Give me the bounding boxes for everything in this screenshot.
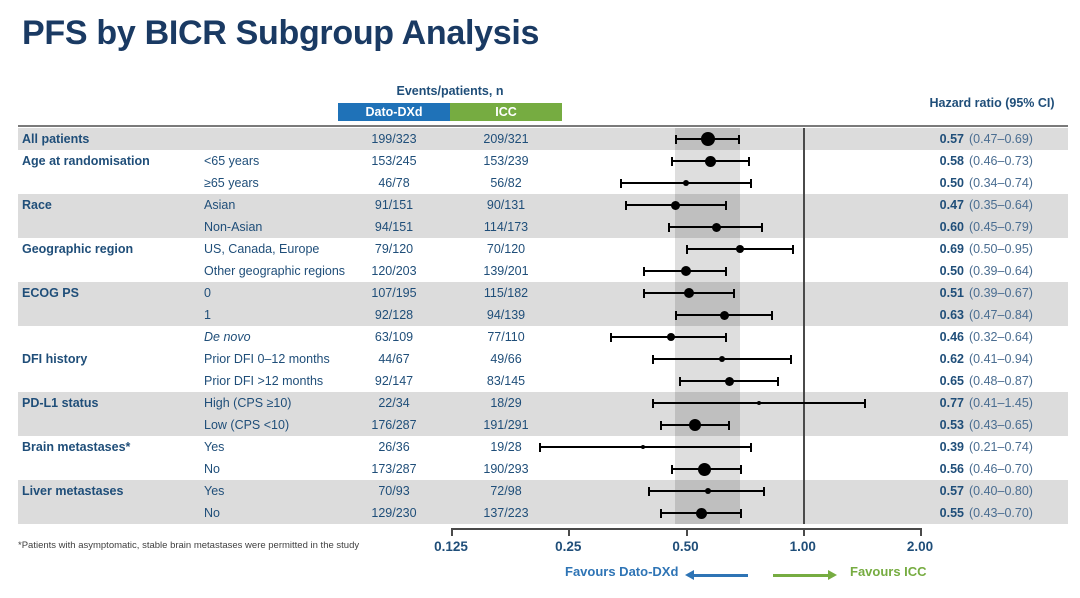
events-patients-header: Events/patients, n (338, 84, 562, 98)
hazard-ratio-ci: (0.46–0.73) (969, 150, 1033, 172)
hazard-ratio-cell: 0.51(0.39–0.67) (918, 282, 1033, 304)
hazard-ratio-cell: 0.65(0.48–0.87) (918, 370, 1033, 392)
hazard-ratio-cell: 0.39(0.21–0.74) (918, 436, 1033, 458)
table-row: ECOG PS0107/195115/1820.51(0.39–0.67) (18, 282, 1068, 304)
subgroup-name: All patients (22, 128, 89, 150)
hazard-ratio-ci: (0.45–0.79) (969, 216, 1033, 238)
subgroup-name: Brain metastases* (22, 436, 130, 458)
hazard-ratio-ci: (0.41–0.94) (969, 348, 1033, 370)
events-icc: 49/66 (450, 348, 562, 370)
table-row: De novo63/10977/1100.46(0.32–0.64) (18, 326, 1068, 348)
table-row: All patients199/323209/3210.57(0.47–0.69… (18, 128, 1068, 150)
hazard-ratio-ci: (0.41–1.45) (969, 392, 1033, 414)
hazard-ratio-cell: 0.62(0.41–0.94) (918, 348, 1033, 370)
hazard-ratio-cell: 0.53(0.43–0.65) (918, 414, 1033, 436)
axis-tick-label: 2.00 (907, 539, 933, 554)
hazard-ratio-value: 0.39 (918, 436, 964, 458)
events-dato-dxd: 26/36 (338, 436, 450, 458)
events-dato-dxd: 120/203 (338, 260, 450, 282)
subgroup-level: US, Canada, Europe (204, 238, 319, 260)
events-icc: 18/29 (450, 392, 562, 414)
axis-tick (920, 528, 922, 536)
hazard-ratio-cell: 0.56(0.46–0.70) (918, 458, 1033, 480)
axis-tick-label: 0.125 (434, 539, 468, 554)
subgroup-level: Yes (204, 436, 224, 458)
favours-icc-label: Favours ICC (850, 564, 927, 579)
table-row: DFI historyPrior DFI 0–12 months44/6749/… (18, 348, 1068, 370)
table-row: Geographic regionUS, Canada, Europe79/12… (18, 238, 1068, 260)
hazard-ratio-cell: 0.50(0.34–0.74) (918, 172, 1033, 194)
hazard-ratio-value: 0.50 (918, 172, 964, 194)
hazard-ratio-cell: 0.60(0.45–0.79) (918, 216, 1033, 238)
hazard-ratio-value: 0.55 (918, 502, 964, 524)
axis-tick (686, 528, 688, 536)
subgroup-level: De novo (204, 326, 251, 348)
events-dato-dxd: 92/128 (338, 304, 450, 326)
events-icc: 77/110 (450, 326, 562, 348)
table-row: PD-L1 statusHigh (CPS ≥10)22/3418/290.77… (18, 392, 1068, 414)
hazard-ratio-value: 0.62 (918, 348, 964, 370)
hazard-ratio-ci: (0.39–0.64) (969, 260, 1033, 282)
hazard-ratio-cell: 0.57(0.40–0.80) (918, 480, 1033, 502)
table-row: Low (CPS <10)176/287191/2910.53(0.43–0.6… (18, 414, 1068, 436)
subgroup-name: PD-L1 status (22, 392, 98, 414)
events-dato-dxd: 173/287 (338, 458, 450, 480)
events-dato-dxd: 46/78 (338, 172, 450, 194)
favours-dato-dxd-label: Favours Dato-DXd (565, 564, 678, 579)
favours-legend: Favours Dato-DXd Favours ICC (0, 564, 1080, 584)
axis-tick (451, 528, 453, 536)
hazard-ratio-ci: (0.47–0.69) (969, 128, 1033, 150)
axis-tick-label: 1.00 (790, 539, 816, 554)
axis-tick-label: 0.50 (672, 539, 698, 554)
axis-tick (803, 528, 805, 536)
events-icc: 19/28 (450, 436, 562, 458)
subgroup-level: ≥65 years (204, 172, 259, 194)
events-icc: 209/321 (450, 128, 562, 150)
events-icc: 190/293 (450, 458, 562, 480)
subgroup-level: Prior DFI >12 months (204, 370, 323, 392)
hazard-ratio-ci: (0.50–0.95) (969, 238, 1033, 260)
hazard-ratio-cell: 0.58(0.46–0.73) (918, 150, 1033, 172)
events-icc: 70/120 (450, 238, 562, 260)
hazard-ratio-ci: (0.39–0.67) (969, 282, 1033, 304)
events-dato-dxd: 79/120 (338, 238, 450, 260)
hazard-ratio-value: 0.53 (918, 414, 964, 436)
hazard-ratio-ci: (0.43–0.65) (969, 414, 1033, 436)
events-dato-dxd: 176/287 (338, 414, 450, 436)
forest-plot: Events/patients, n Dato-DXd ICC Hazard r… (0, 82, 1080, 553)
hazard-ratio-cell: 0.63(0.47–0.84) (918, 304, 1033, 326)
events-dato-dxd: 153/245 (338, 150, 450, 172)
subgroup-level: Other geographic regions (204, 260, 345, 282)
hazard-ratio-cell: 0.55(0.43–0.70) (918, 502, 1033, 524)
hazard-ratio-cell: 0.69(0.50–0.95) (918, 238, 1033, 260)
hazard-ratio-cell: 0.47(0.35–0.64) (918, 194, 1033, 216)
hazard-ratio-value: 0.77 (918, 392, 964, 414)
events-icc: 191/291 (450, 414, 562, 436)
subgroup-level: 0 (204, 282, 211, 304)
column-header-dato-dxd: Dato-DXd (338, 103, 450, 121)
hazard-ratio-value: 0.63 (918, 304, 964, 326)
hazard-ratio-cell: 0.50(0.39–0.64) (918, 260, 1033, 282)
header-divider (18, 125, 1068, 127)
hazard-ratio-value: 0.58 (918, 150, 964, 172)
subgroup-name: Geographic region (22, 238, 133, 260)
subgroup-level: Low (CPS <10) (204, 414, 289, 436)
subgroup-level: High (CPS ≥10) (204, 392, 291, 414)
hazard-ratio-value: 0.51 (918, 282, 964, 304)
events-icc: 153/239 (450, 150, 562, 172)
events-dato-dxd: 91/151 (338, 194, 450, 216)
subgroup-level: Yes (204, 480, 224, 502)
events-dato-dxd: 22/34 (338, 392, 450, 414)
hazard-ratio-ci: (0.48–0.87) (969, 370, 1033, 392)
subgroup-level: <65 years (204, 150, 259, 172)
hazard-ratio-cell: 0.57(0.47–0.69) (918, 128, 1033, 150)
events-icc: 72/98 (450, 480, 562, 502)
footnote: *Patients with asymptomatic, stable brai… (18, 540, 359, 551)
axis-tick-label: 0.25 (555, 539, 581, 554)
subgroup-name: ECOG PS (22, 282, 79, 304)
events-icc: 114/173 (450, 216, 562, 238)
table-row: Prior DFI >12 months92/14783/1450.65(0.4… (18, 370, 1068, 392)
subgroup-level: No (204, 458, 220, 480)
subgroup-name: Race (22, 194, 52, 216)
subgroup-level: 1 (204, 304, 211, 326)
events-icc: 139/201 (450, 260, 562, 282)
events-dato-dxd: 63/109 (338, 326, 450, 348)
events-dato-dxd: 44/67 (338, 348, 450, 370)
subgroup-level: Asian (204, 194, 235, 216)
hazard-ratio-ci: (0.21–0.74) (969, 436, 1033, 458)
hazard-ratio-value: 0.47 (918, 194, 964, 216)
events-icc: 83/145 (450, 370, 562, 392)
hazard-ratio-ci: (0.43–0.70) (969, 502, 1033, 524)
hazard-ratio-ci: (0.40–0.80) (969, 480, 1033, 502)
table-row: Other geographic regions120/203139/2010.… (18, 260, 1068, 282)
subgroup-level: Prior DFI 0–12 months (204, 348, 330, 370)
events-dato-dxd: 92/147 (338, 370, 450, 392)
hazard-ratio-value: 0.57 (918, 128, 964, 150)
hazard-ratio-value: 0.57 (918, 480, 964, 502)
table-row: Age at randomisation<65 years153/245153/… (18, 150, 1068, 172)
events-dato-dxd: 70/93 (338, 480, 450, 502)
table-row: No129/230137/2230.55(0.43–0.70) (18, 502, 1068, 524)
hazard-ratio-cell: 0.77(0.41–1.45) (918, 392, 1033, 414)
events-icc: 56/82 (450, 172, 562, 194)
subgroup-level: No (204, 502, 220, 524)
table-row: Non-Asian94/151114/1730.60(0.45–0.79) (18, 216, 1068, 238)
events-icc: 94/139 (450, 304, 562, 326)
events-dato-dxd: 94/151 (338, 216, 450, 238)
hazard-ratio-value: 0.56 (918, 458, 964, 480)
subgroup-name: DFI history (22, 348, 87, 370)
hazard-ratio-value: 0.46 (918, 326, 964, 348)
table-row: ≥65 years46/7856/820.50(0.34–0.74) (18, 172, 1068, 194)
hazard-ratio-ci: (0.34–0.74) (969, 172, 1033, 194)
hazard-ratio-cell: 0.46(0.32–0.64) (918, 326, 1033, 348)
table-row: No173/287190/2930.56(0.46–0.70) (18, 458, 1068, 480)
table-row: RaceAsian91/15190/1310.47(0.35–0.64) (18, 194, 1068, 216)
table-row: 192/12894/1390.63(0.47–0.84) (18, 304, 1068, 326)
table-row: Liver metastasesYes70/9372/980.57(0.40–0… (18, 480, 1068, 502)
column-header-hazard-ratio: Hazard ratio (95% CI) (908, 96, 1076, 110)
axis-tick (568, 528, 570, 536)
subgroup-name: Age at randomisation (22, 150, 150, 172)
events-icc: 115/182 (450, 282, 562, 304)
subgroup-level: Non-Asian (204, 216, 262, 238)
events-dato-dxd: 129/230 (338, 502, 450, 524)
hazard-ratio-ci: (0.32–0.64) (969, 326, 1033, 348)
events-dato-dxd: 107/195 (338, 282, 450, 304)
page-title: PFS by BICR Subgroup Analysis (22, 14, 539, 53)
events-icc: 90/131 (450, 194, 562, 216)
hazard-ratio-value: 0.69 (918, 238, 964, 260)
hazard-ratio-value: 0.60 (918, 216, 964, 238)
subgroup-name: Liver metastases (22, 480, 123, 502)
hazard-ratio-ci: (0.35–0.64) (969, 194, 1033, 216)
hazard-ratio-value: 0.65 (918, 370, 964, 392)
x-axis: Favours Dato-DXd Favours ICC 0.1250.250.… (0, 528, 1080, 598)
column-header-icc: ICC (450, 103, 562, 121)
table-row: Brain metastases*Yes26/3619/280.39(0.21–… (18, 436, 1068, 458)
events-dato-dxd: 199/323 (338, 128, 450, 150)
events-icc: 137/223 (450, 502, 562, 524)
hazard-ratio-value: 0.50 (918, 260, 964, 282)
hazard-ratio-ci: (0.46–0.70) (969, 458, 1033, 480)
hazard-ratio-ci: (0.47–0.84) (969, 304, 1033, 326)
